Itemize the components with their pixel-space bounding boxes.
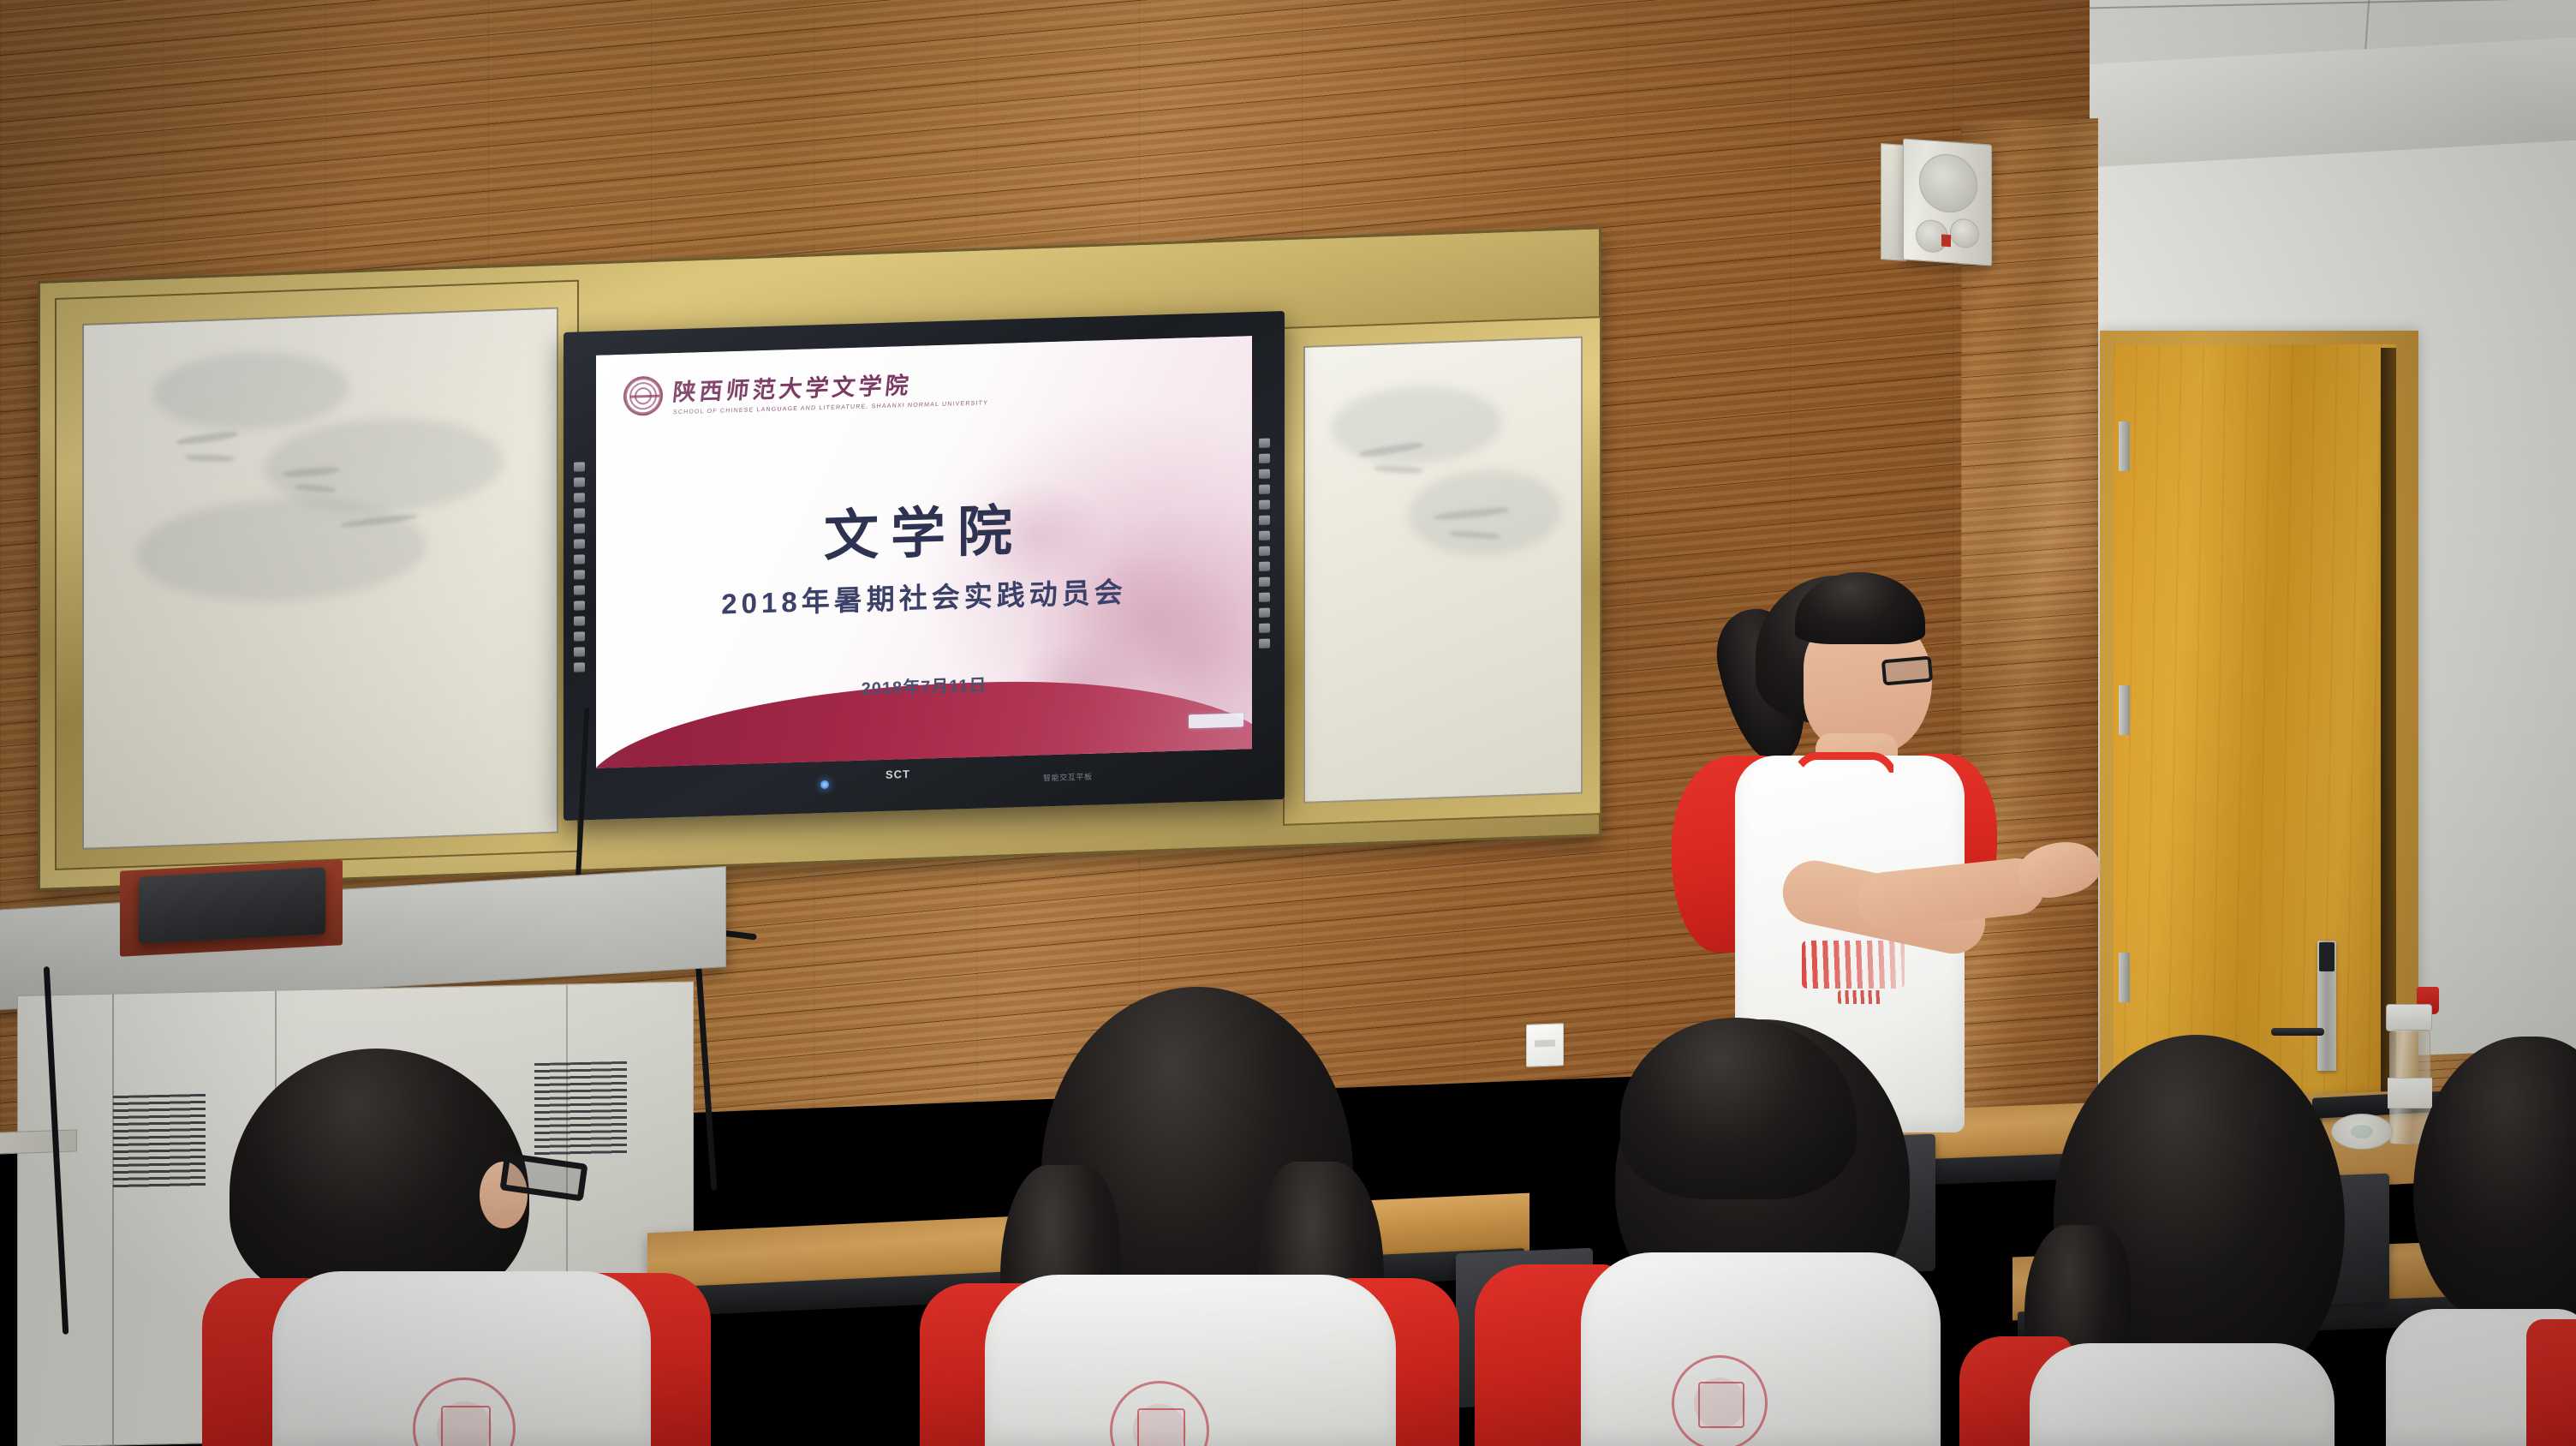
display-icon-r-pen[interactable]	[1259, 500, 1270, 510]
display-icon-r-brightness[interactable]	[1259, 562, 1270, 571]
display-icon-r-back[interactable]	[1259, 593, 1270, 602]
student-far-right-sleeve	[2526, 1319, 2576, 1446]
display-icon-r-usb[interactable]	[1259, 624, 1270, 633]
display-icon-freeze[interactable]	[574, 601, 585, 610]
slide-org-name-cn: 陕西师范大学文学院	[671, 364, 990, 407]
wall-power-outlet[interactable]	[1526, 1023, 1564, 1067]
presenter-shirt-graphic	[1802, 941, 1905, 989]
display-icon-r-volume-down[interactable]	[1259, 547, 1270, 556]
display-icon-back[interactable]	[574, 616, 585, 625]
display-icon-r-settings[interactable]	[1259, 608, 1270, 618]
display-icon-volume-down[interactable]	[574, 570, 585, 579]
door-hinge-top	[2119, 421, 2130, 471]
display-icon-r-eraser[interactable]	[1259, 516, 1270, 525]
classroom-door[interactable]	[2114, 344, 2396, 1153]
presentation-slide: 陕西师范大学文学院 SCHOOL OF CHINESE LANGUAGE AND…	[596, 336, 1252, 768]
display-icon-r-volume-up[interactable]	[1259, 531, 1270, 541]
display-icon-eraser[interactable]	[574, 539, 585, 548]
display-icon-home[interactable]	[574, 508, 585, 517]
interactive-display[interactable]: 陕西师范大学文学院 SCHOOL OF CHINESE LANGUAGE AND…	[563, 311, 1285, 821]
display-left-control-strip[interactable]	[574, 462, 585, 672]
presenter-glasses	[1881, 656, 1933, 686]
whiteboard-left[interactable]	[82, 308, 558, 850]
display-icon-volume-up[interactable]	[574, 554, 585, 564]
speaker-cone-large	[1919, 152, 1977, 215]
display-icon-power[interactable]	[574, 462, 585, 471]
display-icon-r-hdmi[interactable]	[1259, 639, 1270, 648]
display-right-control-strip[interactable]	[1259, 439, 1270, 648]
display-icon-r-freeze[interactable]	[1259, 577, 1270, 587]
slide-org-logo: 陕西师范大学文学院 SCHOOL OF CHINESE LANGUAGE AND…	[623, 364, 988, 417]
presenter-collar	[1788, 752, 1901, 792]
tape-roll[interactable]	[2331, 1114, 2393, 1150]
wood-wall-right-return	[1961, 118, 2098, 1115]
door-handle[interactable]	[2271, 1028, 2324, 1036]
display-icon-menu[interactable]	[574, 493, 585, 502]
display-model-text: 智能交互平板	[1043, 771, 1093, 784]
door-hinge-bottom	[2119, 953, 2130, 1002]
classroom-scene: 陕西师范大学文学院 SCHOOL OF CHINESE LANGUAGE AND…	[0, 0, 2576, 1446]
door-card-reader[interactable]	[2319, 942, 2334, 971]
whiteboard-right[interactable]	[1303, 337, 1583, 804]
display-icon-r-source[interactable]	[1259, 454, 1270, 463]
presenter-shirt-graphic-sub	[1838, 990, 1882, 1004]
display-icon-r-power[interactable]	[1259, 439, 1270, 448]
display-icon-settings[interactable]	[574, 631, 585, 641]
display-icon-usb[interactable]	[574, 647, 585, 656]
student-back-center-shirt-logo	[1672, 1355, 1768, 1446]
display-asset-label	[1189, 713, 1243, 728]
lectern-speaker-grille-right	[534, 1061, 627, 1156]
chair-back-behind-lectern[interactable]	[139, 867, 325, 943]
display-icon-hdmi[interactable]	[574, 662, 585, 672]
display-icon-r-home[interactable]	[1259, 485, 1270, 494]
lectern-port-panel[interactable]	[0, 1129, 77, 1154]
water-bottle-cap[interactable]	[2386, 1004, 2432, 1031]
speaker-cone-small-right	[1950, 218, 1979, 248]
lectern-speaker-grille-left	[113, 1094, 206, 1188]
speaker-brand-badge	[1941, 235, 1951, 248]
display-icon-r-menu[interactable]	[1259, 469, 1270, 479]
display-power-led	[820, 780, 829, 789]
university-seal-icon	[623, 375, 663, 415]
display-screen[interactable]: 陕西师范大学文学院 SCHOOL OF CHINESE LANGUAGE AND…	[596, 336, 1252, 768]
display-icon-source[interactable]	[574, 477, 585, 487]
door-hinge-middle	[2119, 685, 2130, 735]
wall-speaker	[1903, 138, 1992, 266]
display-icon-brightness[interactable]	[574, 585, 585, 595]
student-front-right-shirt	[2030, 1343, 2334, 1446]
display-icon-pen[interactable]	[574, 523, 585, 533]
display-brand-logo: SCT	[885, 768, 910, 781]
water-bottle-sleeve	[2388, 1078, 2432, 1108]
